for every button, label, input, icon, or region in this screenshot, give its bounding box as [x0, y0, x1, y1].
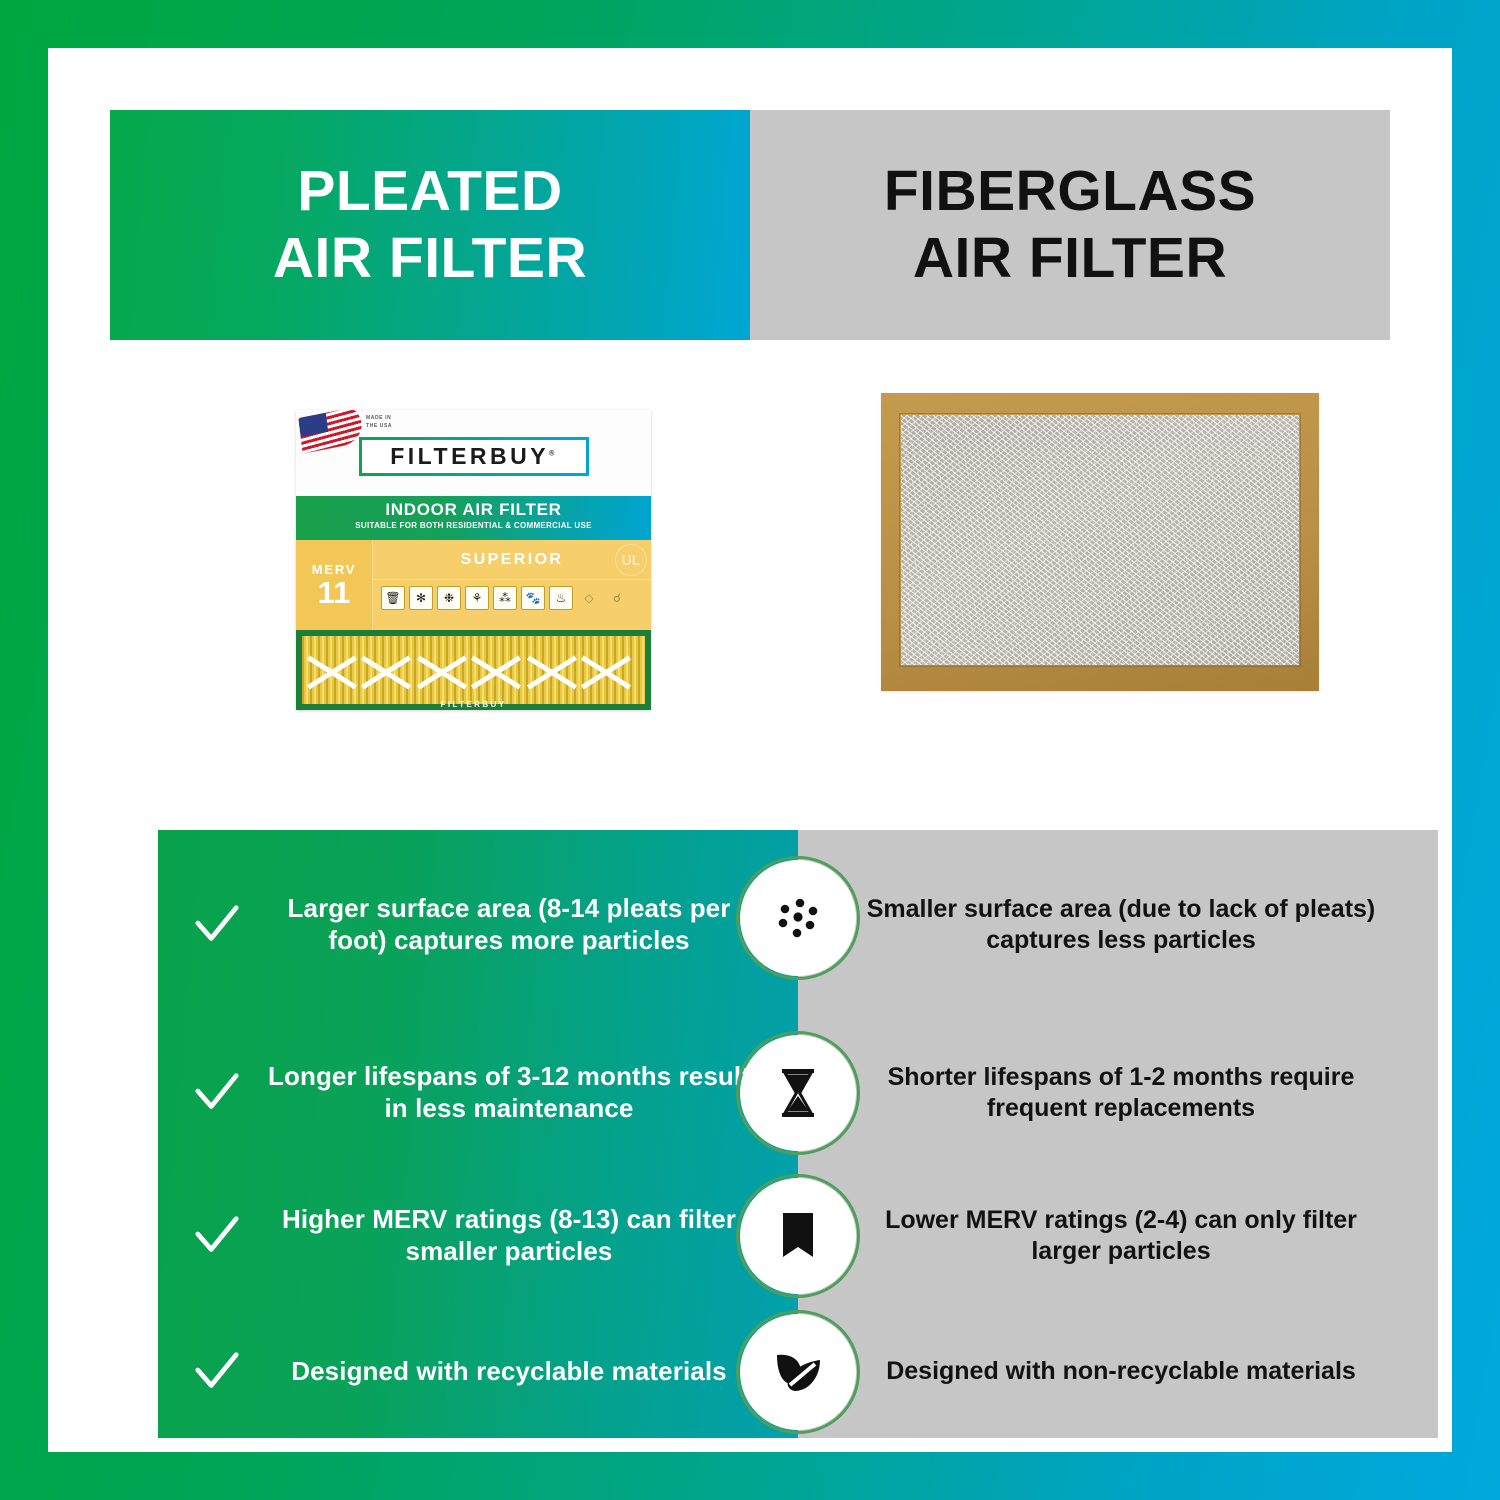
row4-pleated-cell: Designed with recyclable materials	[158, 1349, 798, 1395]
fiberglass-media-texture	[901, 415, 1299, 665]
row3-fiberglass-text: Lower MERV ratings (2-4) can only filter…	[798, 1205, 1438, 1268]
seal-glyph: UL	[622, 552, 641, 568]
content-canvas: PLEATED AIR FILTER FIBERGLASS AIR FILTER	[48, 48, 1452, 1452]
particles-dots-icon	[744, 864, 852, 972]
comparison-panel: Larger surface area (8-14 pleats per foo…	[158, 830, 1438, 1438]
header-band: PLEATED AIR FILTER FIBERGLASS AIR FILTER	[110, 110, 1390, 340]
header-pleated: PLEATED AIR FILTER	[110, 110, 750, 340]
row1-pleated-cell: Larger surface area (8-14 pleats per foo…	[158, 893, 798, 956]
band-subline: SUITABLE FOR BOTH RESIDENTIAL & COMMERCI…	[296, 521, 651, 530]
leaf-eco-icon	[744, 1318, 852, 1426]
merv-rating-block: MERV 11	[296, 540, 373, 630]
indoor-air-filter-band: INDOOR AIR FILTER SUITABLE FOR BOTH RESI…	[296, 496, 651, 540]
header-fiberglass-line2: AIR FILTER	[884, 225, 1256, 292]
faded-icon-a: ◇	[577, 586, 601, 610]
hourglass-icon	[744, 1039, 852, 1147]
pet-dander-icon: 🐾	[521, 586, 545, 610]
filterbuy-logo: FILTERBUY®	[359, 437, 589, 476]
pleated-media-panel: FILTERBUY	[296, 630, 651, 710]
faded-icon-b: ☌	[605, 586, 629, 610]
header-pleated-title: PLEATED AIR FILTER	[273, 158, 587, 293]
box-top-section: MADE IN THE USA FILTERBUY®	[296, 410, 651, 496]
row1-fiberglass-text: Smaller surface area (due to lack of ple…	[798, 894, 1438, 957]
band-headline: INDOOR AIR FILTER	[296, 500, 651, 520]
usa-flag-icon	[298, 410, 363, 454]
dust-mites-icon: ✻	[409, 586, 433, 610]
filtration-icons-row: 🗑 ✻ ❉ ⚘ ⁂ 🐾 ♨ ◇ ☌	[373, 580, 651, 610]
bookmark-ribbon-icon	[744, 1182, 852, 1290]
made-in-line2: THE USA	[366, 423, 392, 431]
checkmark-icon	[194, 902, 240, 948]
checkmark-icon	[194, 1213, 240, 1259]
pleated-footer-brand: FILTERBUY	[296, 700, 651, 709]
product-images-row: MADE IN THE USA FILTERBUY® INDOOR AIR FI…	[110, 348, 1390, 778]
made-in-usa-label: MADE IN THE USA	[366, 415, 392, 430]
ul-certification-seal-icon: UL	[615, 544, 647, 576]
header-pleated-line1: PLEATED	[297, 159, 562, 223]
header-fiberglass: FIBERGLASS AIR FILTER	[750, 110, 1390, 340]
row3-pleated-cell: Higher MERV ratings (8-13) can filter sm…	[158, 1204, 798, 1267]
row4-fiberglass-text: Designed with non-recyclable materials	[798, 1356, 1438, 1388]
row2-fiberglass-text: Shorter lifespans of 1-2 months require …	[798, 1062, 1438, 1125]
checkmark-icon	[194, 1070, 240, 1116]
tier-and-icons: SUPERIOR UL 🗑 ✻ ❉ ⚘ ⁂ 🐾 ♨	[373, 540, 651, 630]
fiberglass-filter-image	[881, 393, 1319, 691]
smoke-icon: ♨	[549, 586, 573, 610]
row4-pleated-text: Designed with recyclable materials	[264, 1356, 754, 1388]
row3-pleated-text: Higher MERV ratings (8-13) can filter sm…	[264, 1204, 754, 1267]
row2-pleated-cell: Longer lifespans of 3-12 months result i…	[158, 1061, 798, 1124]
pleated-product-cell: MADE IN THE USA FILTERBUY® INDOOR AIR FI…	[110, 348, 750, 778]
bacteria-icon: ⁂	[493, 586, 517, 610]
merv-tier-section: MERV 11 SUPERIOR UL 🗑 ✻ ❉	[296, 540, 651, 630]
pollen-icon: ❉	[437, 586, 461, 610]
merv-value: 11	[318, 577, 351, 608]
diamond-support-strips	[302, 636, 645, 704]
gold-pleats	[302, 636, 645, 704]
checkmark-icon	[194, 1349, 240, 1395]
pleated-filter-box-image: MADE IN THE USA FILTERBUY® INDOOR AIR FI…	[296, 410, 651, 710]
comparison-rows: Larger surface area (8-14 pleats per foo…	[158, 830, 1438, 1438]
outer-gradient-frame: PLEATED AIR FILTER FIBERGLASS AIR FILTER	[0, 0, 1500, 1500]
filterbuy-wordmark: FILTERBUY®	[390, 443, 558, 470]
row2-pleated-text: Longer lifespans of 3-12 months result i…	[264, 1061, 754, 1124]
row1-pleated-text: Larger surface area (8-14 pleats per foo…	[264, 893, 754, 956]
header-pleated-line2: AIR FILTER	[273, 225, 587, 292]
header-fiberglass-title: FIBERGLASS AIR FILTER	[884, 158, 1256, 293]
header-fiberglass-line1: FIBERGLASS	[884, 159, 1256, 223]
dust-icon: 🗑	[381, 586, 405, 610]
made-in-line1: MADE IN	[366, 415, 392, 423]
mold-spores-icon: ⚘	[465, 586, 489, 610]
fiberglass-product-cell	[750, 348, 1390, 778]
tier-label: SUPERIOR	[373, 540, 651, 580]
